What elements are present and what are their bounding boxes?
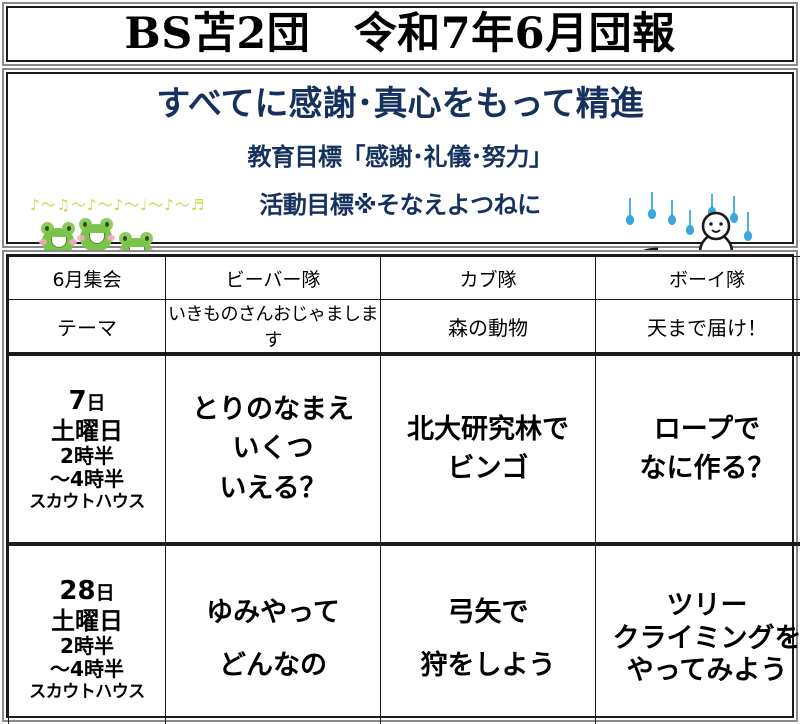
header-boy: ボーイ隊 bbox=[596, 257, 800, 300]
theme-label: テーマ bbox=[9, 300, 166, 355]
activity-line: ビンゴ bbox=[383, 449, 593, 488]
date-cell: 7日 土曜日 2時半 ～4時半 スカウトハウス bbox=[9, 354, 166, 544]
activity-cub: 北大研究林で ビンゴ bbox=[381, 354, 596, 544]
activity-line: 弓矢で bbox=[383, 593, 593, 632]
slogan-main: すべてに感謝･真心をもって精進 bbox=[8, 86, 792, 123]
slogan-band: すべてに感謝･真心をもって精進 教育目標「感謝･礼儀･努力」 活動目標※そなえよ… bbox=[2, 68, 798, 248]
date-weekday: 土曜日 bbox=[11, 417, 163, 445]
page-title: BS苫2団 令和7年6月団報 bbox=[8, 8, 792, 60]
table-row: 7日 土曜日 2時半 ～4時半 スカウトハウス とりのなまえ いくつ いえる？ bbox=[9, 354, 800, 544]
activity-line: 北大研究林で bbox=[383, 410, 593, 449]
table-header-row: 6月集会 ビーバー隊 カブ隊 ボーイ隊 bbox=[9, 257, 800, 300]
activity-boy: ロープで なに作る？ bbox=[596, 354, 800, 544]
raindrops-icon bbox=[627, 192, 751, 252]
date-cell: 28日 土曜日 2時半 ～4時半 スカウトハウス bbox=[9, 544, 166, 724]
table-row: 28日 土曜日 2時半 ～4時半 スカウトハウス ゆみやって どんなの bbox=[9, 544, 800, 724]
header-beaver: ビーバー隊 bbox=[166, 257, 381, 300]
schedule-table: 6月集会 ビーバー隊 カブ隊 ボーイ隊 テーマ いきものさんおじゃまします 森の… bbox=[8, 256, 800, 724]
education-goal: 教育目標「感謝･礼儀･努力」 bbox=[8, 144, 792, 170]
header-meeting: 6月集会 bbox=[9, 257, 166, 300]
activity-line: なに作る？ bbox=[598, 449, 800, 488]
date-day: 7日 bbox=[11, 386, 163, 417]
date-time-end: ～4時半 bbox=[11, 658, 163, 682]
date-place: スカウトハウス bbox=[11, 682, 163, 702]
activity-cub: 弓矢で 狩をしよう bbox=[381, 544, 596, 724]
schedule-table-box: 6月集会 ビーバー隊 カブ隊 ボーイ隊 テーマ いきものさんおじゃまします 森の… bbox=[2, 250, 798, 722]
date-time-end: ～4時半 bbox=[11, 468, 163, 492]
activity-beaver: とりのなまえ いくつ いえる？ bbox=[166, 354, 381, 544]
activity-beaver: ゆみやって どんなの bbox=[166, 544, 381, 724]
activity-line: とりのなまえ bbox=[168, 390, 378, 429]
activity-line: どんなの bbox=[168, 646, 378, 685]
theme-cub: 森の動物 bbox=[381, 300, 596, 355]
date-place: スカウトハウス bbox=[11, 492, 163, 512]
theme-beaver: いきものさんおじゃまします bbox=[166, 300, 381, 355]
frog-cheek-left bbox=[77, 235, 85, 241]
newsletter-page: BS苫2団 令和7年6月団報 すべてに感謝･真心をもって精進 教育目標「感謝･礼… bbox=[0, 0, 800, 724]
date-day: 28日 bbox=[11, 576, 163, 607]
activity-line: いえる？ bbox=[168, 469, 378, 508]
activity-boy: ツリー クライミングを やってみよう bbox=[596, 544, 800, 724]
activity-line: ツリー bbox=[598, 590, 800, 622]
activity-line: やってみよう bbox=[598, 655, 800, 687]
date-weekday: 土曜日 bbox=[11, 607, 163, 635]
activity-line: ロープで bbox=[598, 410, 800, 449]
activity-line: 狩をしよう bbox=[383, 646, 593, 685]
frog-cheek-left bbox=[39, 239, 47, 245]
schedule-grid: 6月集会 ビーバー隊 カブ隊 ボーイ隊 テーマ いきものさんおじゃまします 森の… bbox=[6, 254, 794, 718]
title-band: BS苫2団 令和7年6月団報 bbox=[2, 2, 798, 66]
activity-line: いくつ bbox=[168, 429, 378, 468]
theme-boy: 天まで届け！ bbox=[596, 300, 800, 355]
date-time-start: 2時半 bbox=[11, 445, 163, 469]
frog-icon bbox=[76, 218, 116, 254]
activity-line: ゆみやって bbox=[168, 593, 378, 632]
theme-row: テーマ いきものさんおじゃまします 森の動物 天まで届け！ bbox=[9, 300, 800, 355]
frog-cheek-right bbox=[107, 235, 115, 241]
date-time-start: 2時半 bbox=[11, 635, 163, 659]
slogan-band-inner: すべてに感謝･真心をもって精進 教育目標「感謝･礼儀･努力」 活動目標※そなえよ… bbox=[6, 72, 794, 244]
activity-line: クライミングを bbox=[598, 623, 800, 655]
header-cub: カブ隊 bbox=[381, 257, 596, 300]
music-notes-icon: ♪～♫～♪～♪～♩～♪～♬ bbox=[30, 194, 170, 215]
title-band-inner: BS苫2団 令和7年6月団報 bbox=[6, 6, 794, 62]
